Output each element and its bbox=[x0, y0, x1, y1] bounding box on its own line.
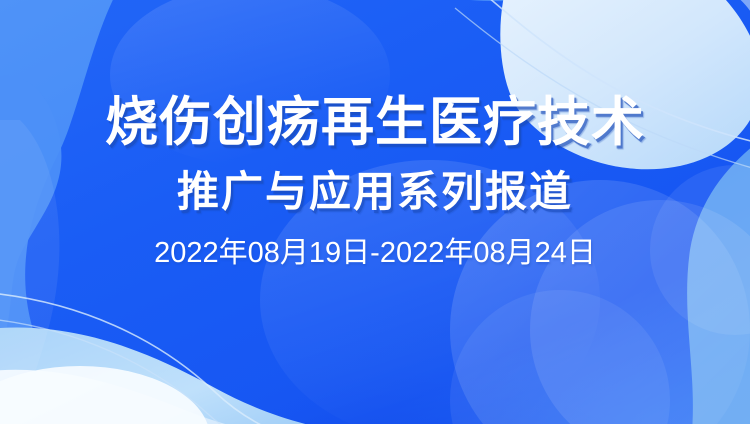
date-range-label: 2022年08月19日-2022年08月24日 bbox=[154, 239, 596, 268]
page-title: 烧伤创疡再生医疗技术 bbox=[105, 96, 645, 149]
page-subtitle: 推广与应用系列报道 bbox=[177, 171, 573, 213]
promo-banner: 烧伤创疡再生医疗技术 推广与应用系列报道 2022年08月19日-2022年08… bbox=[0, 0, 750, 424]
banner-content: 烧伤创疡再生医疗技术 推广与应用系列报道 2022年08月19日-2022年08… bbox=[0, 0, 750, 424]
